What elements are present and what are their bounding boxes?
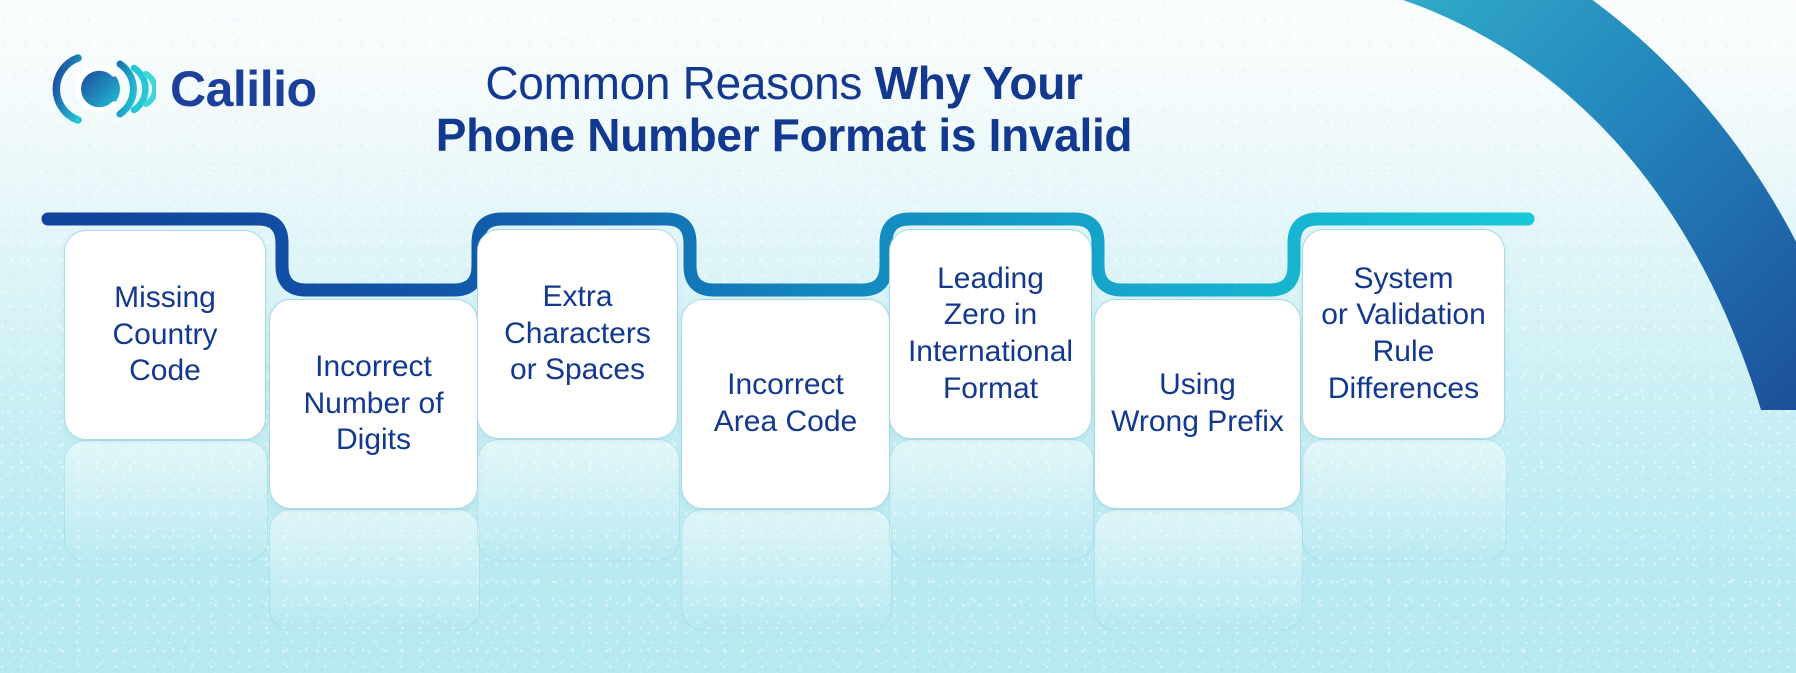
brand-name: Calilio: [170, 64, 317, 114]
card-reflection: [477, 439, 680, 561]
reason-card-incorrect-area-code[interactable]: Incorrect Area Code: [681, 299, 890, 509]
card-reflection: [889, 439, 1094, 561]
infographic-canvas: Calilio Common Reasons Why Your Phone Nu…: [0, 0, 1796, 673]
brand-logo: Calilio: [52, 52, 317, 126]
reason-card-label: Missing Country Code: [77, 280, 253, 390]
card-reflection: [64, 440, 268, 562]
reason-card-label: Leading Zero in International Format: [908, 261, 1073, 407]
reason-card-missing-country-code[interactable]: Missing Country Code: [64, 230, 266, 440]
page-title: Common Reasons Why Your Phone Number For…: [360, 58, 1208, 161]
reason-card-label: Incorrect Area Code: [714, 367, 857, 440]
card-reflection: [1094, 509, 1303, 631]
reason-card-label: Extra Characters or Spaces: [504, 279, 651, 389]
reason-card-system-or-validation-rule-differences[interactable]: System or Validation Rule Differences: [1302, 229, 1505, 439]
card-reflection: [681, 509, 892, 631]
reason-card-using-wrong-prefix[interactable]: Using Wrong Prefix: [1094, 299, 1301, 509]
reason-card-label: System or Validation Rule Differences: [1321, 261, 1486, 407]
reason-card-extra-characters-or-spaces[interactable]: Extra Characters or Spaces: [477, 229, 678, 439]
calilio-signal-logo-icon: [52, 52, 156, 126]
reason-card-label: Using Wrong Prefix: [1111, 367, 1284, 440]
title-line-1: Common Reasons Why Your: [360, 58, 1208, 110]
reason-card-label: Incorrect Number of Digits: [303, 349, 443, 459]
card-reflection: [1302, 439, 1507, 561]
reason-card-leading-zero-international-format[interactable]: Leading Zero in International Format: [889, 229, 1092, 439]
title-line-2: Phone Number Format is Invalid: [360, 110, 1208, 162]
title-line-1-bold: Why Your: [875, 57, 1083, 109]
reason-card-incorrect-number-of-digits[interactable]: Incorrect Number of Digits: [269, 299, 478, 509]
card-reflection: [269, 509, 480, 631]
title-line-1-light: Common Reasons: [485, 57, 874, 109]
